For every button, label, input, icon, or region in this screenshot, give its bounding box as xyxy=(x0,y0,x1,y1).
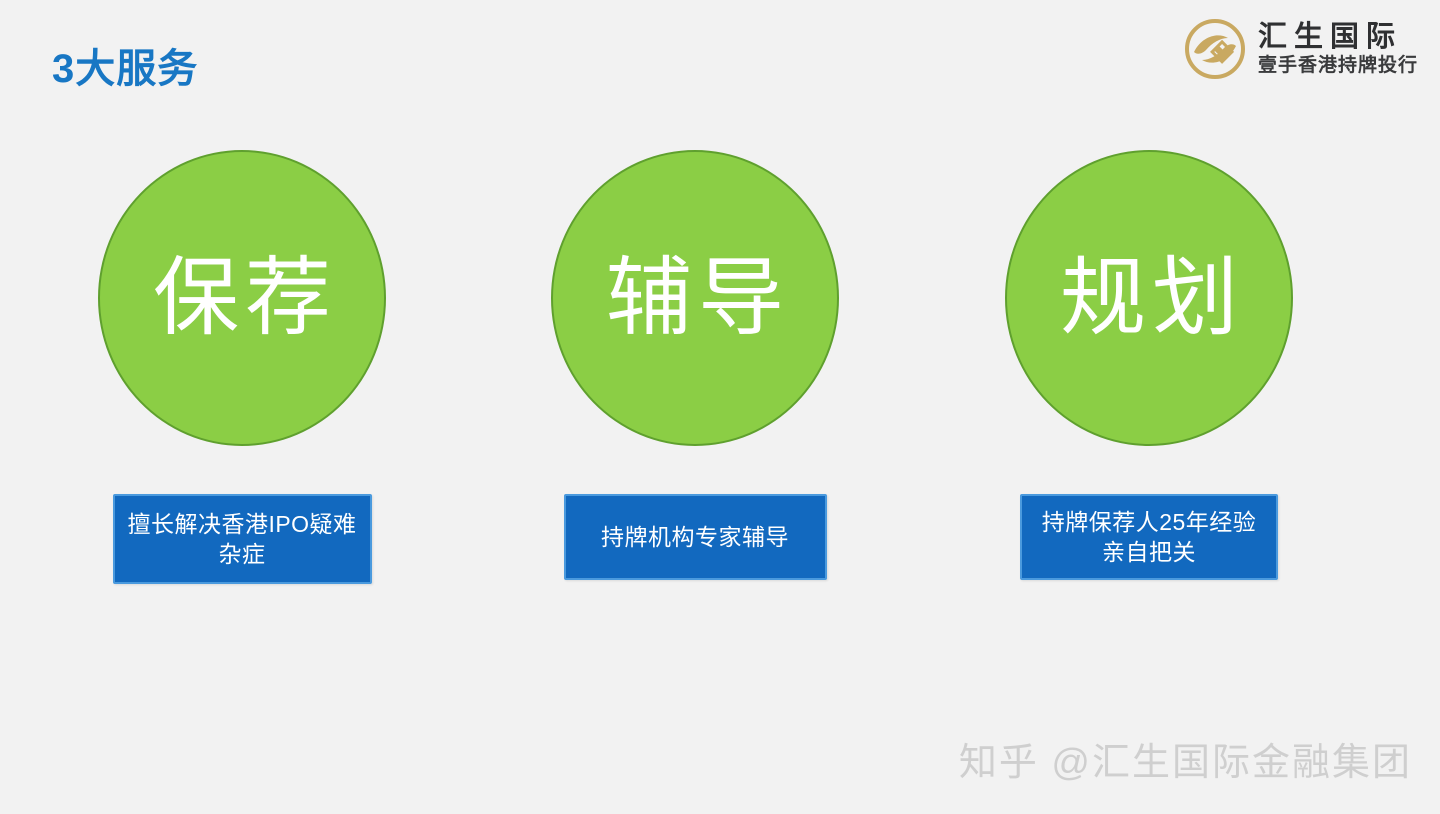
service-info-box-2: 持牌机构专家辅导 xyxy=(564,494,827,580)
service-column-1: 保荐 擅长解决香港IPO疑难杂症 xyxy=(92,150,392,584)
watermark: 知乎 @汇生国际金融集团 xyxy=(959,731,1412,786)
service-info-text-2: 持牌机构专家辅导 xyxy=(601,522,789,552)
service-info-box-3: 持牌保荐人25年经验亲自把关 xyxy=(1020,494,1278,580)
page-title: 3大服务 xyxy=(52,36,198,94)
brand-logo: 汇生国际 壹手香港持牌投行 xyxy=(1184,18,1418,80)
circular-emblem-icon xyxy=(1184,18,1246,80)
service-info-text-3: 持牌保荐人25年经验亲自把关 xyxy=(1032,507,1266,568)
service-info-text-1: 擅长解决香港IPO疑难杂症 xyxy=(125,509,360,570)
service-column-2: 辅导 持牌机构专家辅导 xyxy=(545,150,845,580)
service-circle-label-1: 保荐 xyxy=(147,255,337,341)
brand-name: 汇生国际 xyxy=(1258,22,1418,52)
service-column-3: 规划 持牌保荐人25年经验亲自把关 xyxy=(999,150,1299,580)
slide-canvas: 3大服务 汇生国际 壹手香港持牌投行 保荐 擅长解决香港IPO疑难杂症 xyxy=(0,0,1440,814)
brand-tagline: 壹手香港持牌投行 xyxy=(1258,56,1418,76)
service-circle-label-2: 辅导 xyxy=(600,255,790,341)
service-circle-1: 保荐 xyxy=(98,150,386,446)
service-info-box-1: 擅长解决香港IPO疑难杂症 xyxy=(113,494,372,584)
service-circle-label-3: 规划 xyxy=(1054,255,1244,341)
service-circle-2: 辅导 xyxy=(551,150,839,446)
brand-logo-text: 汇生国际 壹手香港持牌投行 xyxy=(1258,22,1418,75)
services-row: 保荐 擅长解决香港IPO疑难杂症 辅导 持牌机构专家辅导 规划 持牌保荐人25年… xyxy=(0,150,1440,600)
service-circle-3: 规划 xyxy=(1005,150,1293,446)
